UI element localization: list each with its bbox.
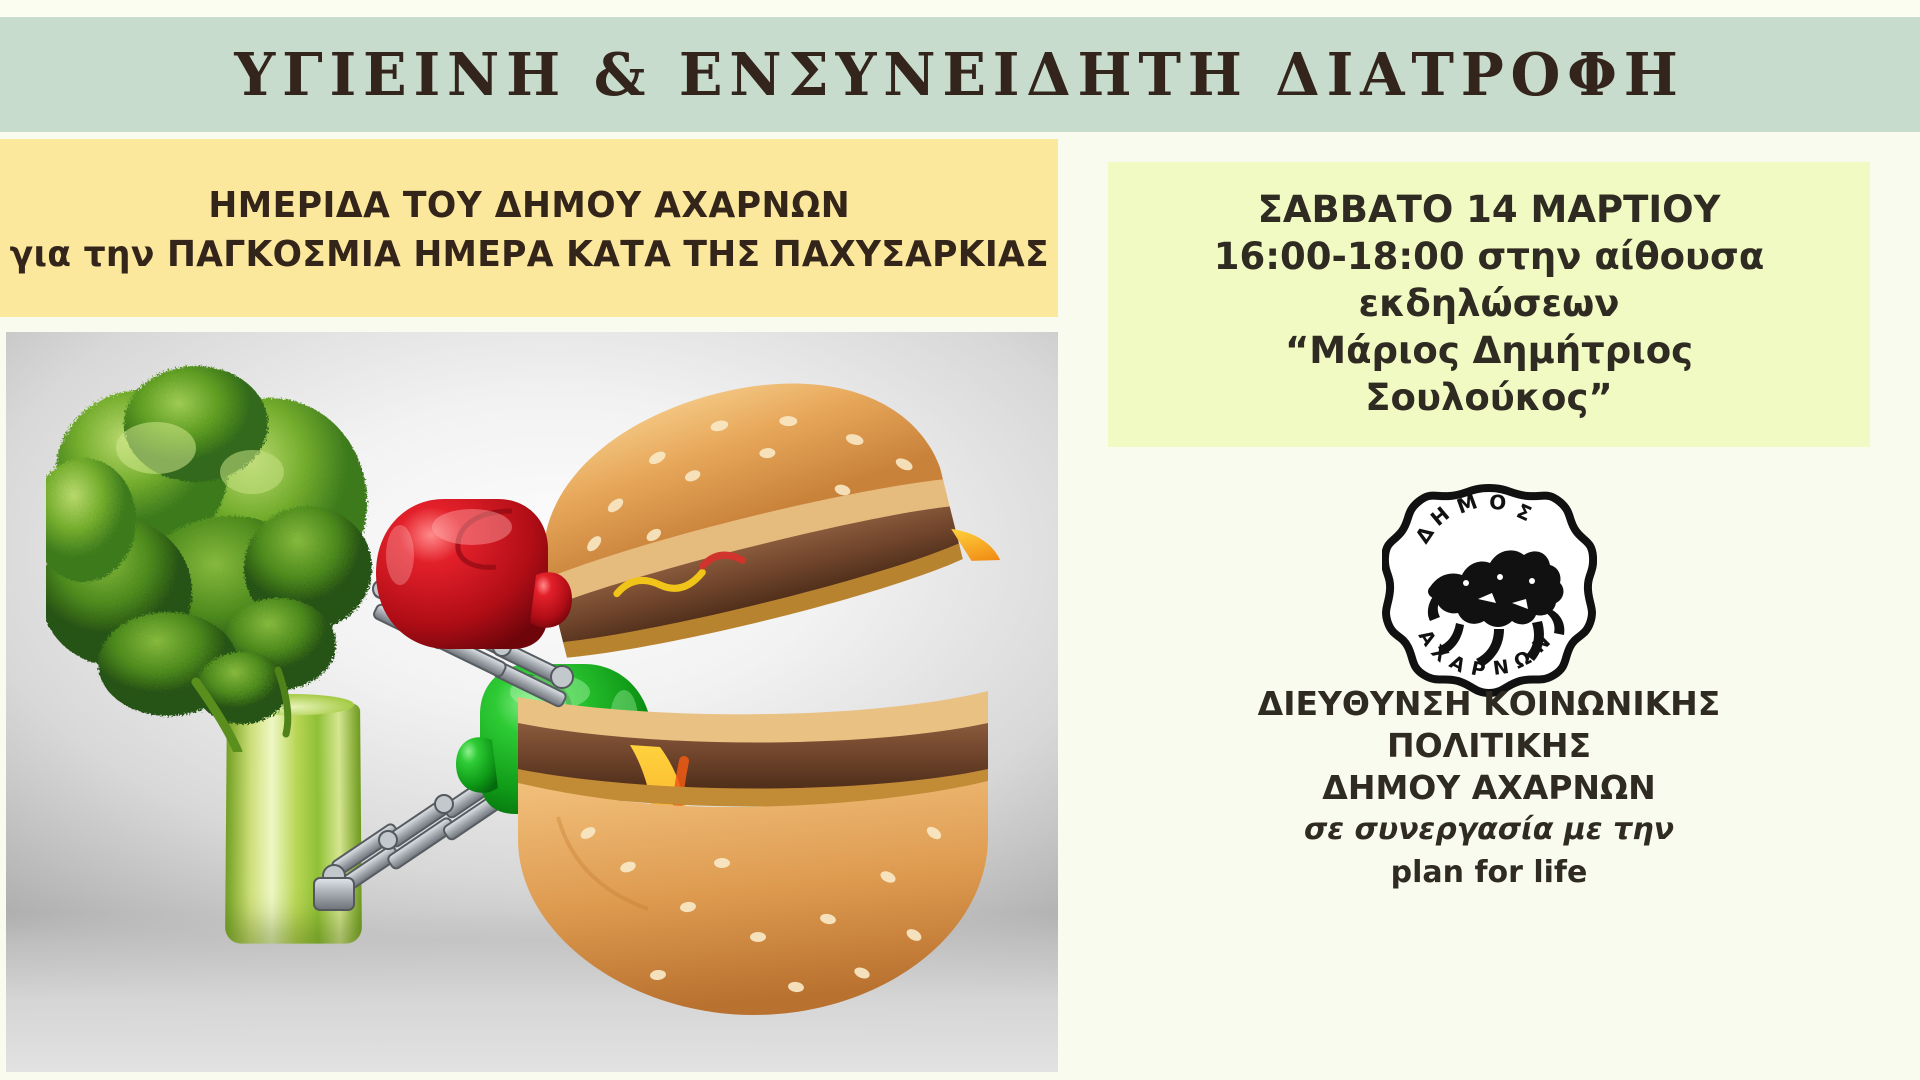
svg-text:Ν: Ν bbox=[1491, 655, 1510, 679]
top-margin-strip bbox=[0, 0, 1920, 17]
broccoli-illustration bbox=[46, 352, 466, 1032]
svg-text:Ο: Ο bbox=[1488, 490, 1506, 515]
event-details-panel: ΣΑΒΒΑΤΟ 14 ΜΑΡΤΙΟΥ 16:00-18:00 στην αίθο… bbox=[1108, 162, 1870, 447]
poster-header-band: ΥΓΙΕΙΝΗ & ΕΝΣΥΝΕΙΔΗΤΗ ΔΙΑΤΡΟΦΗ bbox=[0, 17, 1920, 132]
partner-name: plan for life bbox=[1391, 853, 1588, 892]
event-detail-line-5: Σουλούκος” bbox=[1365, 375, 1612, 422]
hero-photo bbox=[6, 332, 1058, 1072]
subtitle-line-2: για την ΠΑΓΚΟΣΜΙΑ ΗΜΕΡΑ ΚΑΤΑ ΤΗΣ ΠΑΧΥΣΑΡ… bbox=[9, 234, 1048, 275]
organizer-footer: ΔΙΕΥΘΥΝΣΗ ΚΟΙΝΩΝΙΚΗΣ ΠΟΛΙΤΙΚΗΣ ΔΗΜΟΥ ΑΧΑ… bbox=[1058, 683, 1920, 892]
logo-container: Δ Η Μ Ο Σ Α Χ Α Ρ Ν Ω Ν bbox=[1058, 477, 1920, 703]
footer-line-3: ΔΗΜΟΥ ΑΧΑΡΝΩΝ bbox=[1322, 767, 1655, 809]
footer-line-4: σε συνεργασία με την bbox=[1304, 810, 1674, 849]
municipality-emblem-icon: Δ Η Μ Ο Σ Α Χ Α Ρ Ν Ω Ν bbox=[1382, 483, 1597, 698]
footer-line-1: ΔΙΕΥΘΥΝΣΗ ΚΟΙΝΩΝΙΚΗΣ bbox=[1258, 683, 1721, 725]
hamburger-illustration bbox=[448, 357, 1048, 1057]
event-detail-line-4: “Μάριος Δημήτριος bbox=[1285, 328, 1693, 375]
event-detail-line-2: 16:00-18:00 στην αίθουσα bbox=[1214, 234, 1765, 281]
event-detail-line-1: ΣΑΒΒΑΤΟ 14 ΜΑΡΤΙΟΥ bbox=[1258, 187, 1721, 234]
footer-line-2: ΠΟΛΙΤΙΚΗΣ bbox=[1387, 725, 1591, 767]
event-detail-line-3: εκδηλώσεων bbox=[1359, 281, 1620, 328]
subtitle-line-1: ΗΜΕΡΙΔΑ ΤΟΥ ΔΗΜΟΥ ΑΧΑΡΝΩΝ bbox=[208, 185, 850, 226]
page-title: ΥΓΙΕΙΝΗ & ΕΝΣΥΝΕΙΔΗΤΗ ΔΙΑΤΡΟΦΗ bbox=[235, 40, 1685, 109]
subtitle-band: ΗΜΕΡΙΔΑ ΤΟΥ ΔΗΜΟΥ ΑΧΑΡΝΩΝ για την ΠΑΓΚΟΣ… bbox=[0, 139, 1058, 317]
right-column: ΣΑΒΒΑΤΟ 14 ΜΑΡΤΙΟΥ 16:00-18:00 στην αίθο… bbox=[1058, 139, 1920, 1080]
